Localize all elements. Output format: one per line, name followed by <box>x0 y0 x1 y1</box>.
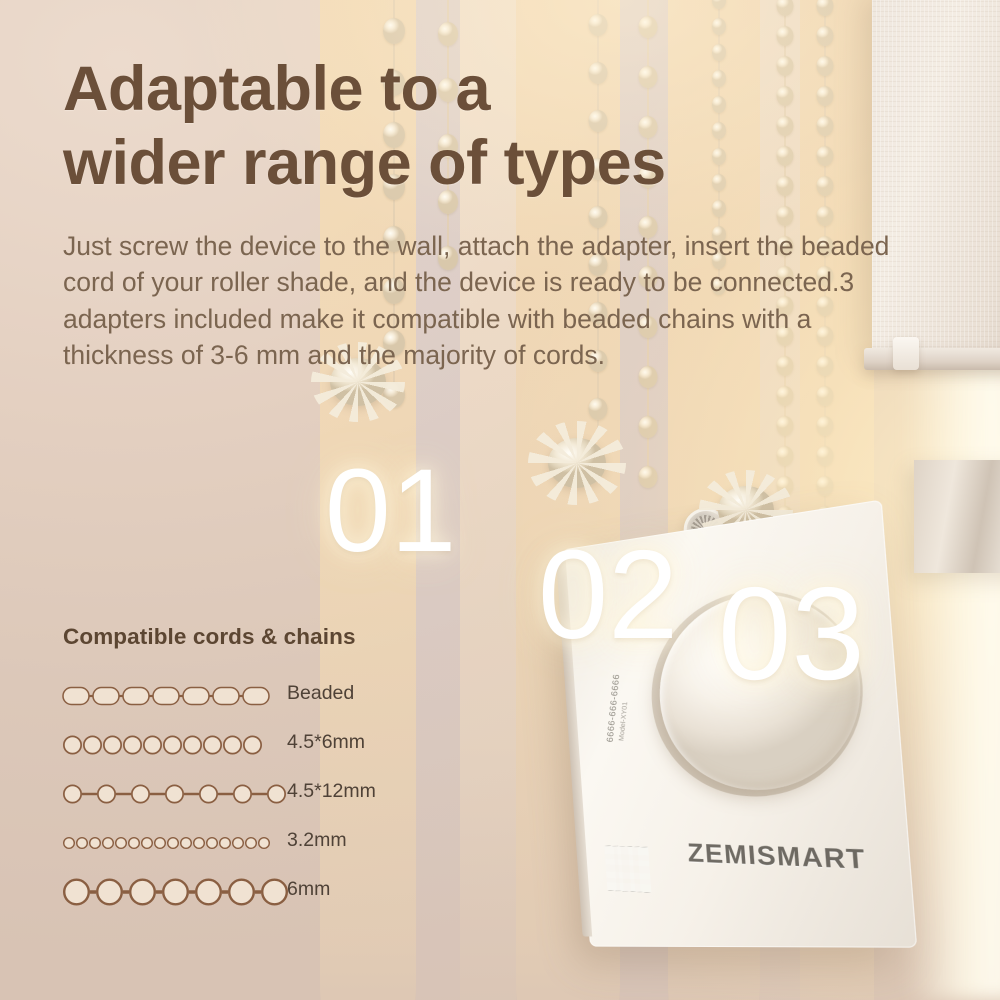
chain-diagram-3-2mm-icon <box>63 826 275 856</box>
legend-label: 4.5*12mm <box>275 780 376 803</box>
legend-label: 4.5*6mm <box>275 731 365 754</box>
description-paragraph: Just screw the device to the wall, attac… <box>63 228 923 373</box>
step-number-01: 01 <box>325 452 456 570</box>
headline-line-1: Adaptable to a <box>63 53 666 127</box>
legend-row: 6mm <box>63 870 423 909</box>
compatibility-legend: Compatible cords & chains Beaded4.5*6mm4… <box>63 624 423 919</box>
qr-code <box>604 846 651 893</box>
legend-row: 4.5*12mm <box>63 772 423 811</box>
step-number-02: 02 <box>538 532 678 658</box>
window-light-beam <box>905 300 1000 1000</box>
headline-line-2: wider range of types <box>63 127 666 201</box>
chain-diagram-6mm-icon <box>63 875 275 905</box>
legend-row: 4.5*6mm <box>63 723 423 762</box>
wall-sconce-light <box>914 460 1000 573</box>
legend-label: Beaded <box>275 682 354 705</box>
chain-diagram-beaded-icon <box>63 679 275 709</box>
page-title: Adaptable to a wider range of types <box>63 53 666 200</box>
chain-diagram-4-5-12mm-icon <box>63 777 275 807</box>
legend-row: Beaded <box>63 674 423 713</box>
device-model-text: Model-XY01 <box>618 702 629 742</box>
adapter-gear-02 <box>548 438 606 488</box>
gear-spokes-icon <box>528 421 625 505</box>
legend-title: Compatible cords & chains <box>63 624 423 650</box>
device-brand-logo: ZEMISMART <box>687 838 868 876</box>
chain-diagram-4-5-6mm-icon <box>63 728 275 758</box>
step-number-03: 03 <box>718 568 865 700</box>
product-banner: 6666-666-6666 Model-XY01 ZEMISMART 01 02… <box>0 0 1000 1000</box>
legend-row-list: Beaded4.5*6mm4.5*12mm3.2mm6mm <box>63 674 423 909</box>
legend-label: 3.2mm <box>275 829 347 852</box>
legend-row: 3.2mm <box>63 821 423 860</box>
